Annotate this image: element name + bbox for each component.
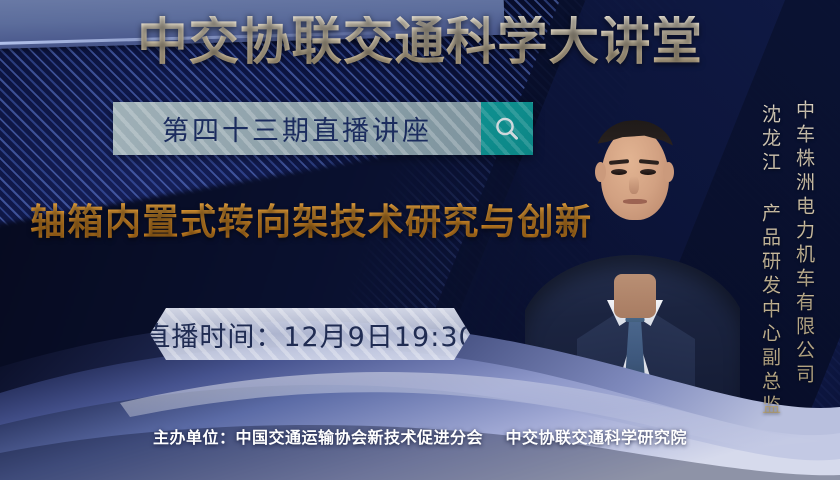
speaker-company: 中车株洲电力机车有限公司 [791,100,818,388]
speaker-name-title: 沈龙江 产品研发中心副总监 [757,104,784,419]
search-icon[interactable] [481,102,533,155]
nose [629,176,639,194]
live-time-text: 直播时间：12月9日19:30 [150,315,470,354]
episode-banner-body: 第四十三期直播讲座 [113,102,481,155]
eye-left [611,169,627,175]
live-lecture-poster: 中交协联交通科学大讲堂 第四十三期直播讲座 轴箱内置式转向架技术研究与创新 直播… [0,0,840,480]
organizer-footer: 主办单位：中国交通运输协会新技术促进分会 中交协联交通科学研究院 [0,424,840,448]
face [601,128,669,220]
mouth [623,199,647,204]
eye-right [640,169,656,175]
episode-label: 第四十三期直播讲座 [162,109,432,148]
lecture-topic: 轴箱内置式转向架技术研究与创新 [30,193,593,245]
ear-left [595,162,606,182]
silk-ribbon-decoration [0,275,840,480]
page-title: 中交协联交通科学大讲堂 [13,16,828,68]
live-time-badge: 直播时间：12月9日19:30 [150,308,470,360]
episode-banner: 第四十三期直播讲座 [113,102,533,155]
ear-right [663,162,674,182]
